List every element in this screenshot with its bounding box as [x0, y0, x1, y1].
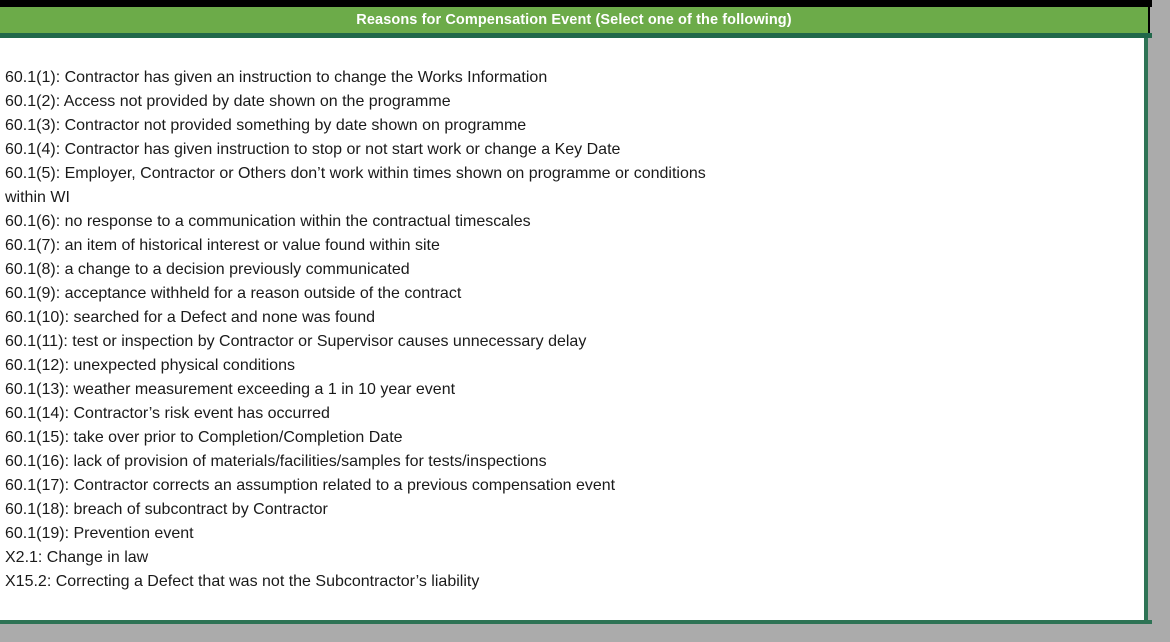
list-item-continuation[interactable]: within WI [5, 186, 1136, 210]
list-item[interactable]: 60.1(4): Contractor has given instructio… [5, 138, 1136, 162]
reasons-panel: 60.1(1): Contractor has given an instruc… [0, 38, 1148, 621]
list-item[interactable]: 60.1(11): test or inspection by Contract… [5, 330, 1136, 354]
list-item[interactable]: 60.1(3): Contractor not provided somethi… [5, 114, 1136, 138]
list-item[interactable]: 60.1(7): an item of historical interest … [5, 234, 1136, 258]
surround-right-strip [1152, 0, 1170, 642]
panel-top-rule [0, 0, 1152, 7]
list-item[interactable]: 60.1(14): Contractor’s risk event has oc… [5, 402, 1136, 426]
list-item[interactable]: 60.1(9): acceptance withheld for a reaso… [5, 282, 1136, 306]
list-item[interactable]: 60.1(6): no response to a communication … [5, 210, 1136, 234]
list-item[interactable]: X2.1: Change in law [5, 546, 1136, 570]
list-item[interactable]: 60.1(10): searched for a Defect and none… [5, 306, 1136, 330]
list-item[interactable]: 60.1(16): lack of provision of materials… [5, 450, 1136, 474]
list-item[interactable]: 60.1(12): unexpected physical conditions [5, 354, 1136, 378]
list-item[interactable]: 60.1(5): Employer, Contractor or Others … [5, 162, 1136, 186]
list-item[interactable]: 60.1(18): breach of subcontract by Contr… [5, 498, 1136, 522]
list-item[interactable]: 60.1(8): a change to a decision previous… [5, 258, 1136, 282]
compensation-event-reasons-screen: Reasons for Compensation Event (Select o… [0, 0, 1170, 642]
list-item[interactable]: 60.1(2): Access not provided by date sho… [5, 90, 1136, 114]
list-item[interactable]: 60.1(15): take over prior to Completion/… [5, 426, 1136, 450]
list-item[interactable]: 60.1(19): Prevention event [5, 522, 1136, 546]
reasons-header-banner: Reasons for Compensation Event (Select o… [0, 7, 1150, 33]
surround-bottom-strip [0, 624, 1170, 642]
list-item[interactable]: 60.1(13): weather measurement exceeding … [5, 378, 1136, 402]
page-title: Reasons for Compensation Event (Select o… [356, 13, 791, 28]
list-item[interactable]: 60.1(1): Contractor has given an instruc… [5, 66, 1136, 90]
list-item[interactable]: 60.1(17): Contractor corrects an assumpt… [5, 474, 1136, 498]
list-item[interactable]: X15.2: Correcting a Defect that was not … [5, 570, 1136, 594]
reasons-list: 60.1(1): Contractor has given an instruc… [5, 66, 1136, 594]
